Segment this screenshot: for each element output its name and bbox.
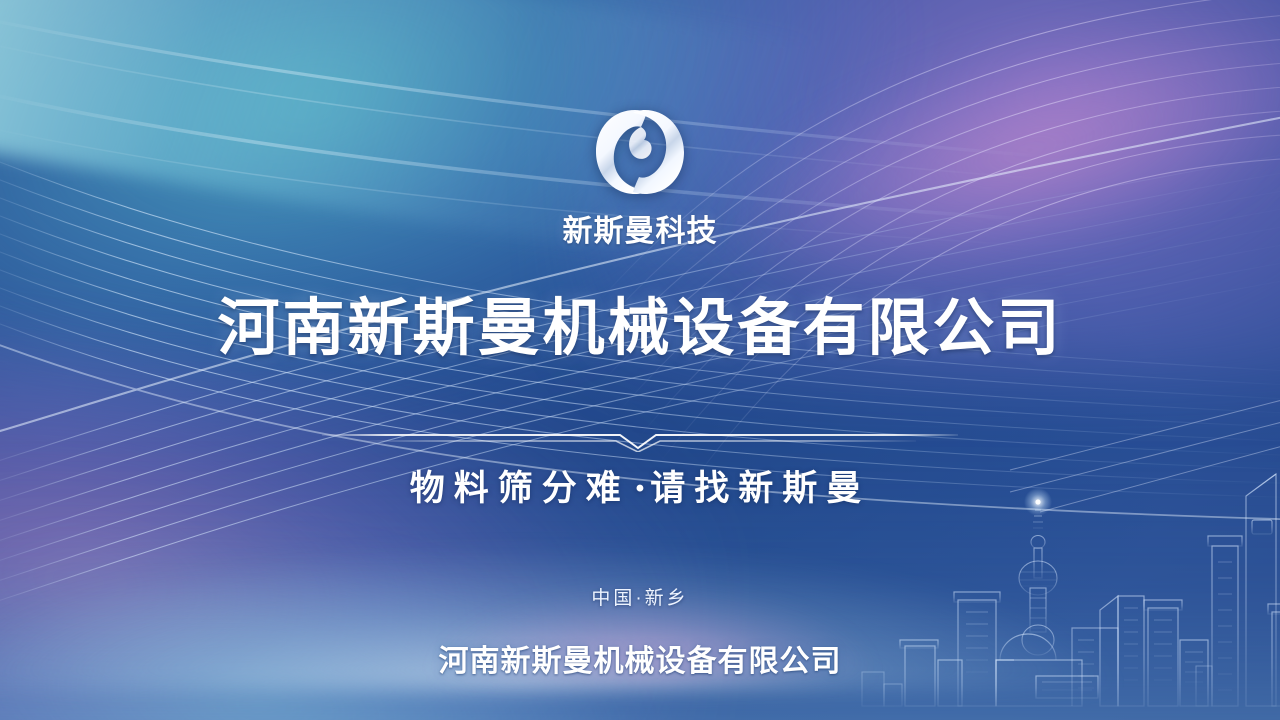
logo-wordmark: 新斯曼科技 <box>563 206 718 250</box>
ornamental-divider <box>320 426 960 452</box>
slide-content: 新斯曼科技 河南新斯曼机械设备有限公司 <box>0 0 1280 720</box>
page-title: 河南新斯曼机械设备有限公司 <box>217 298 1062 360</box>
location-label: 中国·新乡 <box>591 583 688 610</box>
slide-subtitle: 物料筛分难•请找新斯曼 <box>410 460 870 511</box>
subtitle-bullet-icon: • <box>630 475 650 502</box>
title-slide: 新斯曼科技 河南新斯曼机械设备有限公司 <box>0 0 1280 720</box>
subtitle-left: 物料筛分难 <box>410 469 630 508</box>
logo-block: 新斯曼科技 <box>563 104 718 250</box>
subtitle-right: 请找新斯曼 <box>650 469 870 508</box>
bottom-caption: 河南新斯曼机械设备有限公司 <box>0 636 1280 680</box>
swirl-s-circle-logo <box>588 104 692 200</box>
